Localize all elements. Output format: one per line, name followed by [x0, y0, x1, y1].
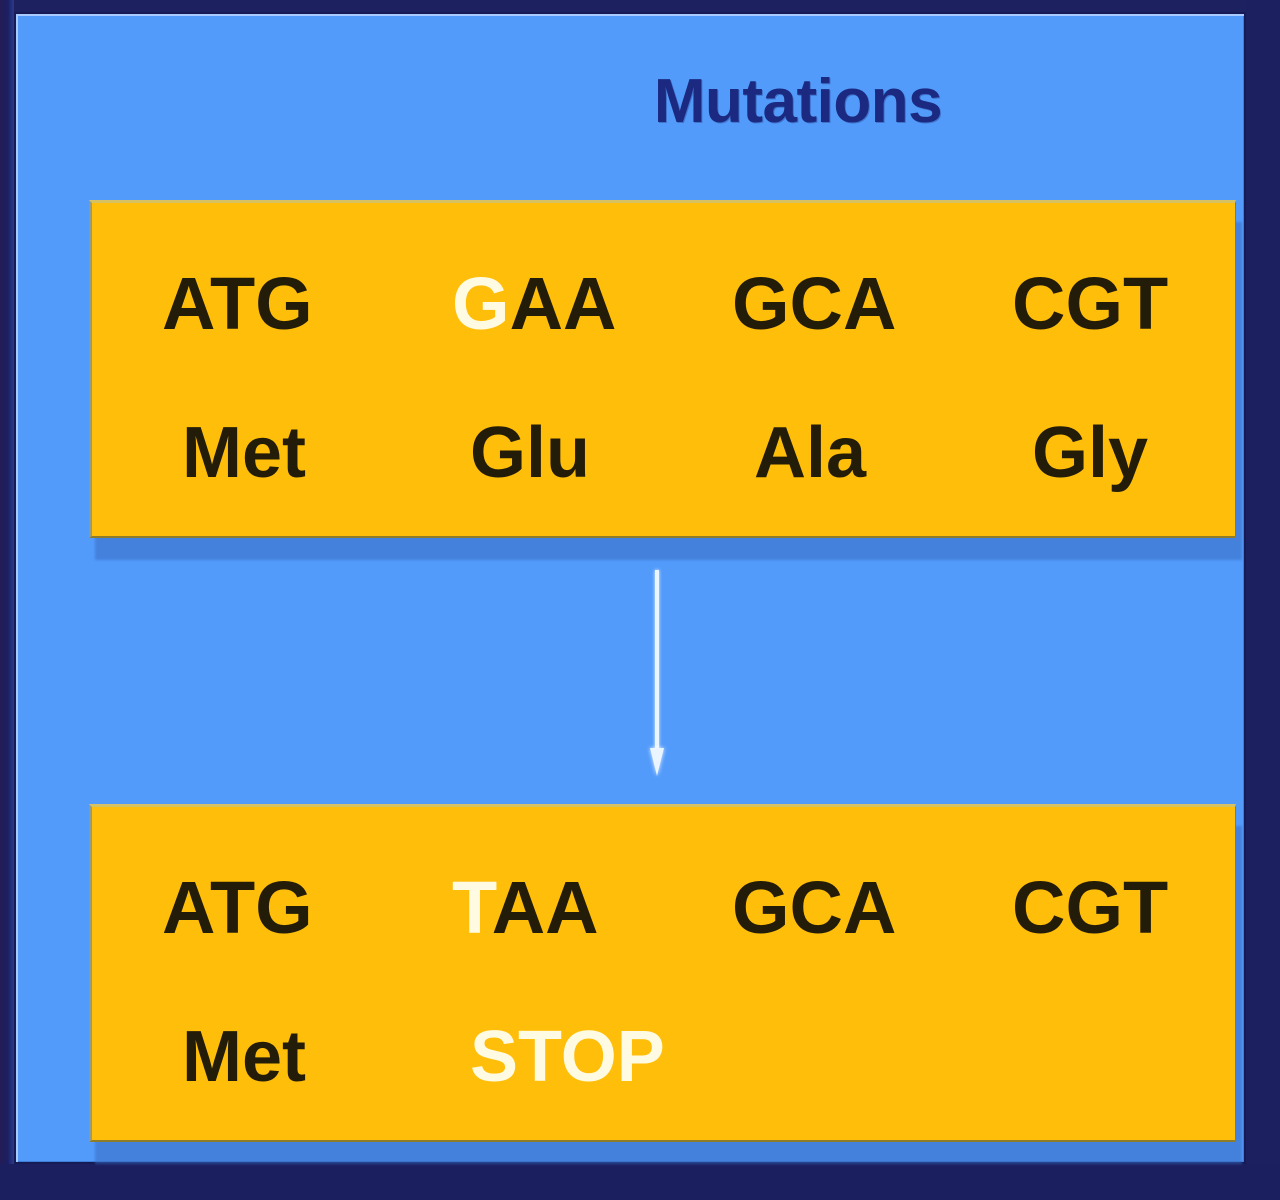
amino-acid-row-original: Met Glu Ala Gly: [92, 403, 1235, 503]
amino-acid-cell-1: Met: [182, 412, 402, 494]
page-title: Mutations: [16, 66, 1244, 137]
frame-edge-top: [0, 0, 1280, 12]
codon-row-mutated: ATG TAA GCA CGT: [92, 857, 1235, 957]
slide-canvas: Mutations ATG GAA GCA CGT: [16, 14, 1244, 1162]
amino-acid-cell-3: Ala: [754, 412, 994, 494]
codon-rest-3: GCA: [732, 866, 896, 949]
codon-cell-2: TAA: [452, 865, 692, 950]
codon-highlight-2: G: [452, 262, 510, 345]
stop-codon-label: STOP: [470, 1016, 710, 1098]
codon-cell-4: CGT: [1012, 865, 1232, 950]
codon-rest-2: AA: [510, 262, 617, 345]
panel-body: ATG GAA GCA CGT Met Glu Ala: [89, 200, 1236, 538]
codon-cell-3: GCA: [732, 865, 972, 950]
frame-edge-right: [1246, 0, 1280, 1200]
arrow-shaft: [655, 570, 659, 752]
codon-rest-2: AA: [492, 866, 599, 949]
codon-row-original: ATG GAA GCA CGT: [92, 253, 1235, 353]
frame-edge-left: [0, 0, 14, 1200]
codon-rest-1: ATG: [162, 866, 313, 949]
codon-cell-1: ATG: [162, 261, 382, 346]
codon-highlight-2: T: [452, 866, 492, 949]
codon-cell-4: CGT: [1012, 261, 1232, 346]
codon-rest-4: CGT: [1012, 262, 1168, 345]
codon-cell-1: ATG: [162, 865, 382, 950]
amino-acid-cell-1: Met: [182, 1016, 402, 1098]
mutations-slide: Mutations ATG GAA GCA CGT: [0, 0, 1280, 1200]
codon-cell-3: GCA: [732, 261, 972, 346]
panel-body: ATG TAA GCA CGT Met STOP: [89, 804, 1236, 1142]
codon-cell-2: GAA: [452, 261, 692, 346]
codon-rest-3: GCA: [732, 262, 896, 345]
amino-acid-cell-2: Glu: [470, 412, 710, 494]
mutation-arrow: [650, 570, 664, 782]
amino-acid-cell-4: Gly: [1032, 412, 1252, 494]
frame-edge-bottom: [0, 1164, 1280, 1200]
arrow-head-icon: [650, 748, 664, 776]
amino-acid-row-mutated: Met STOP: [92, 1007, 1235, 1107]
codon-rest-4: CGT: [1012, 866, 1168, 949]
codon-rest-1: ATG: [162, 262, 313, 345]
